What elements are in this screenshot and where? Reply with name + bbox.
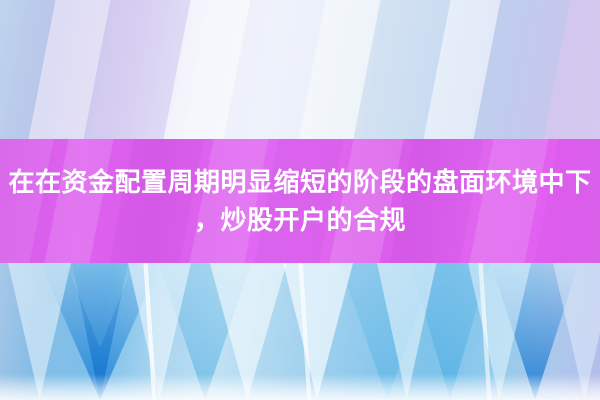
headline-block: 在在资金配置周期明显缩短的阶段的盘面环境中下 ，炒股开户的合规 bbox=[0, 139, 600, 263]
top-streak-1 bbox=[0, 0, 63, 139]
chevron-light-7 bbox=[535, 263, 600, 400]
chevron-dark-3 bbox=[480, 263, 590, 400]
top-streak-4 bbox=[152, 0, 259, 139]
headline-line-2: ，炒股开户的合规 bbox=[194, 201, 406, 239]
chevron-mid-3 bbox=[400, 263, 500, 400]
chevron-light-5 bbox=[360, 263, 445, 400]
chevron-edge-1 bbox=[95, 263, 205, 400]
top-streak-8 bbox=[412, 0, 509, 139]
top-gradient-band bbox=[0, 0, 600, 139]
chevron-dark-2 bbox=[60, 263, 140, 400]
chevron-edge-2 bbox=[250, 263, 360, 400]
promo-banner: 在在资金配置周期明显缩短的阶段的盘面环境中下 ，炒股开户的合规 bbox=[0, 0, 600, 400]
chevron-light-3 bbox=[190, 263, 300, 400]
top-streak-7 bbox=[342, 0, 459, 139]
chevron-light-1 bbox=[0, 263, 80, 400]
top-streak-9 bbox=[462, 0, 579, 139]
top-streak-5 bbox=[212, 0, 334, 139]
chevron-light-6 bbox=[450, 263, 540, 400]
chevron-dark-1 bbox=[40, 263, 160, 400]
chevron-mid-1 bbox=[150, 263, 260, 400]
top-streak-6 bbox=[287, 0, 389, 139]
chevron-edge-3 bbox=[430, 263, 540, 400]
top-streak-2 bbox=[17, 0, 119, 139]
chevron-mid-2 bbox=[330, 263, 445, 400]
chevron-light-2 bbox=[110, 263, 200, 400]
headline-line-1: 在在资金配置周期明显缩短的阶段的盘面环境中下 bbox=[8, 163, 591, 201]
chevron-light-4 bbox=[265, 263, 365, 400]
top-streak-10 bbox=[532, 0, 600, 139]
bottom-fade-overlay bbox=[0, 374, 600, 400]
bottom-chevron-band bbox=[0, 263, 600, 400]
top-streak-3 bbox=[72, 0, 199, 139]
